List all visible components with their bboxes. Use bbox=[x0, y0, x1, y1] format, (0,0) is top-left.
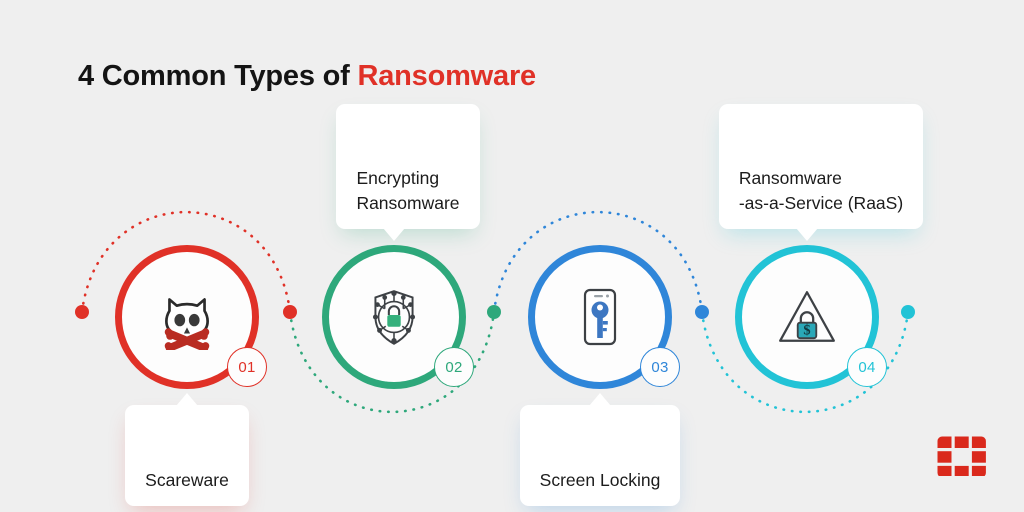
fortinet-logo bbox=[936, 434, 986, 476]
logo-tile bbox=[955, 437, 969, 449]
label-card-text: Screen Locking bbox=[540, 470, 661, 490]
node-badge-label: 02 bbox=[445, 359, 462, 376]
label-card-text: Scareware bbox=[145, 470, 229, 490]
card-tail bbox=[176, 393, 198, 406]
node-badge-03: 03 bbox=[640, 347, 680, 387]
node-ransomware-as-a-service[interactable]: $ 04 bbox=[735, 245, 879, 389]
logo-tile bbox=[938, 451, 952, 463]
node-encrypting-ransomware[interactable]: 02 bbox=[322, 245, 466, 389]
page-title: 4 Common Types of Ransomware bbox=[78, 60, 536, 93]
label-card-encrypting-ransomware[interactable]: Encrypting Ransomware bbox=[336, 104, 479, 229]
node-scareware[interactable]: 01 bbox=[115, 245, 259, 389]
logo-tile bbox=[972, 437, 986, 449]
card-tail bbox=[796, 228, 818, 241]
logo-tile bbox=[938, 466, 952, 476]
node-badge-label: 04 bbox=[858, 359, 875, 376]
node-badge-04: 04 bbox=[847, 347, 887, 387]
connector-dot bbox=[901, 305, 915, 319]
logo-tile bbox=[938, 437, 952, 449]
node-badge-label: 01 bbox=[238, 359, 255, 376]
label-card-text: Encrypting Ransomware bbox=[356, 168, 459, 213]
card-tail bbox=[383, 228, 405, 241]
label-card-scareware[interactable]: Scareware bbox=[125, 405, 249, 506]
logo-tile bbox=[972, 466, 986, 476]
svg-text:$: $ bbox=[803, 323, 810, 339]
page-title-plain: 4 Common Types of bbox=[78, 60, 357, 92]
label-card-text: Ransomware -as-a-Service (RaaS) bbox=[739, 168, 903, 213]
node-screen-locking[interactable]: 03 bbox=[528, 245, 672, 389]
logo-tile bbox=[955, 466, 969, 476]
node-badge-label: 03 bbox=[651, 359, 668, 376]
node-badge-02: 02 bbox=[434, 347, 474, 387]
logo-tile bbox=[972, 451, 986, 463]
connector-dot bbox=[695, 305, 709, 319]
card-tail bbox=[589, 393, 611, 406]
page-title-accent: Ransomware bbox=[357, 60, 536, 92]
label-card-screen-locking[interactable]: Screen Locking bbox=[520, 405, 681, 506]
label-card-ransomware-as-a-service[interactable]: Ransomware -as-a-Service (RaaS) bbox=[719, 104, 923, 229]
connector-dot bbox=[487, 305, 501, 319]
node-badge-01: 01 bbox=[227, 347, 267, 387]
connector-dot bbox=[283, 305, 297, 319]
infographic-canvas: 4 Common Types of Ransomware bbox=[0, 0, 1024, 512]
connector-dot bbox=[75, 305, 89, 319]
